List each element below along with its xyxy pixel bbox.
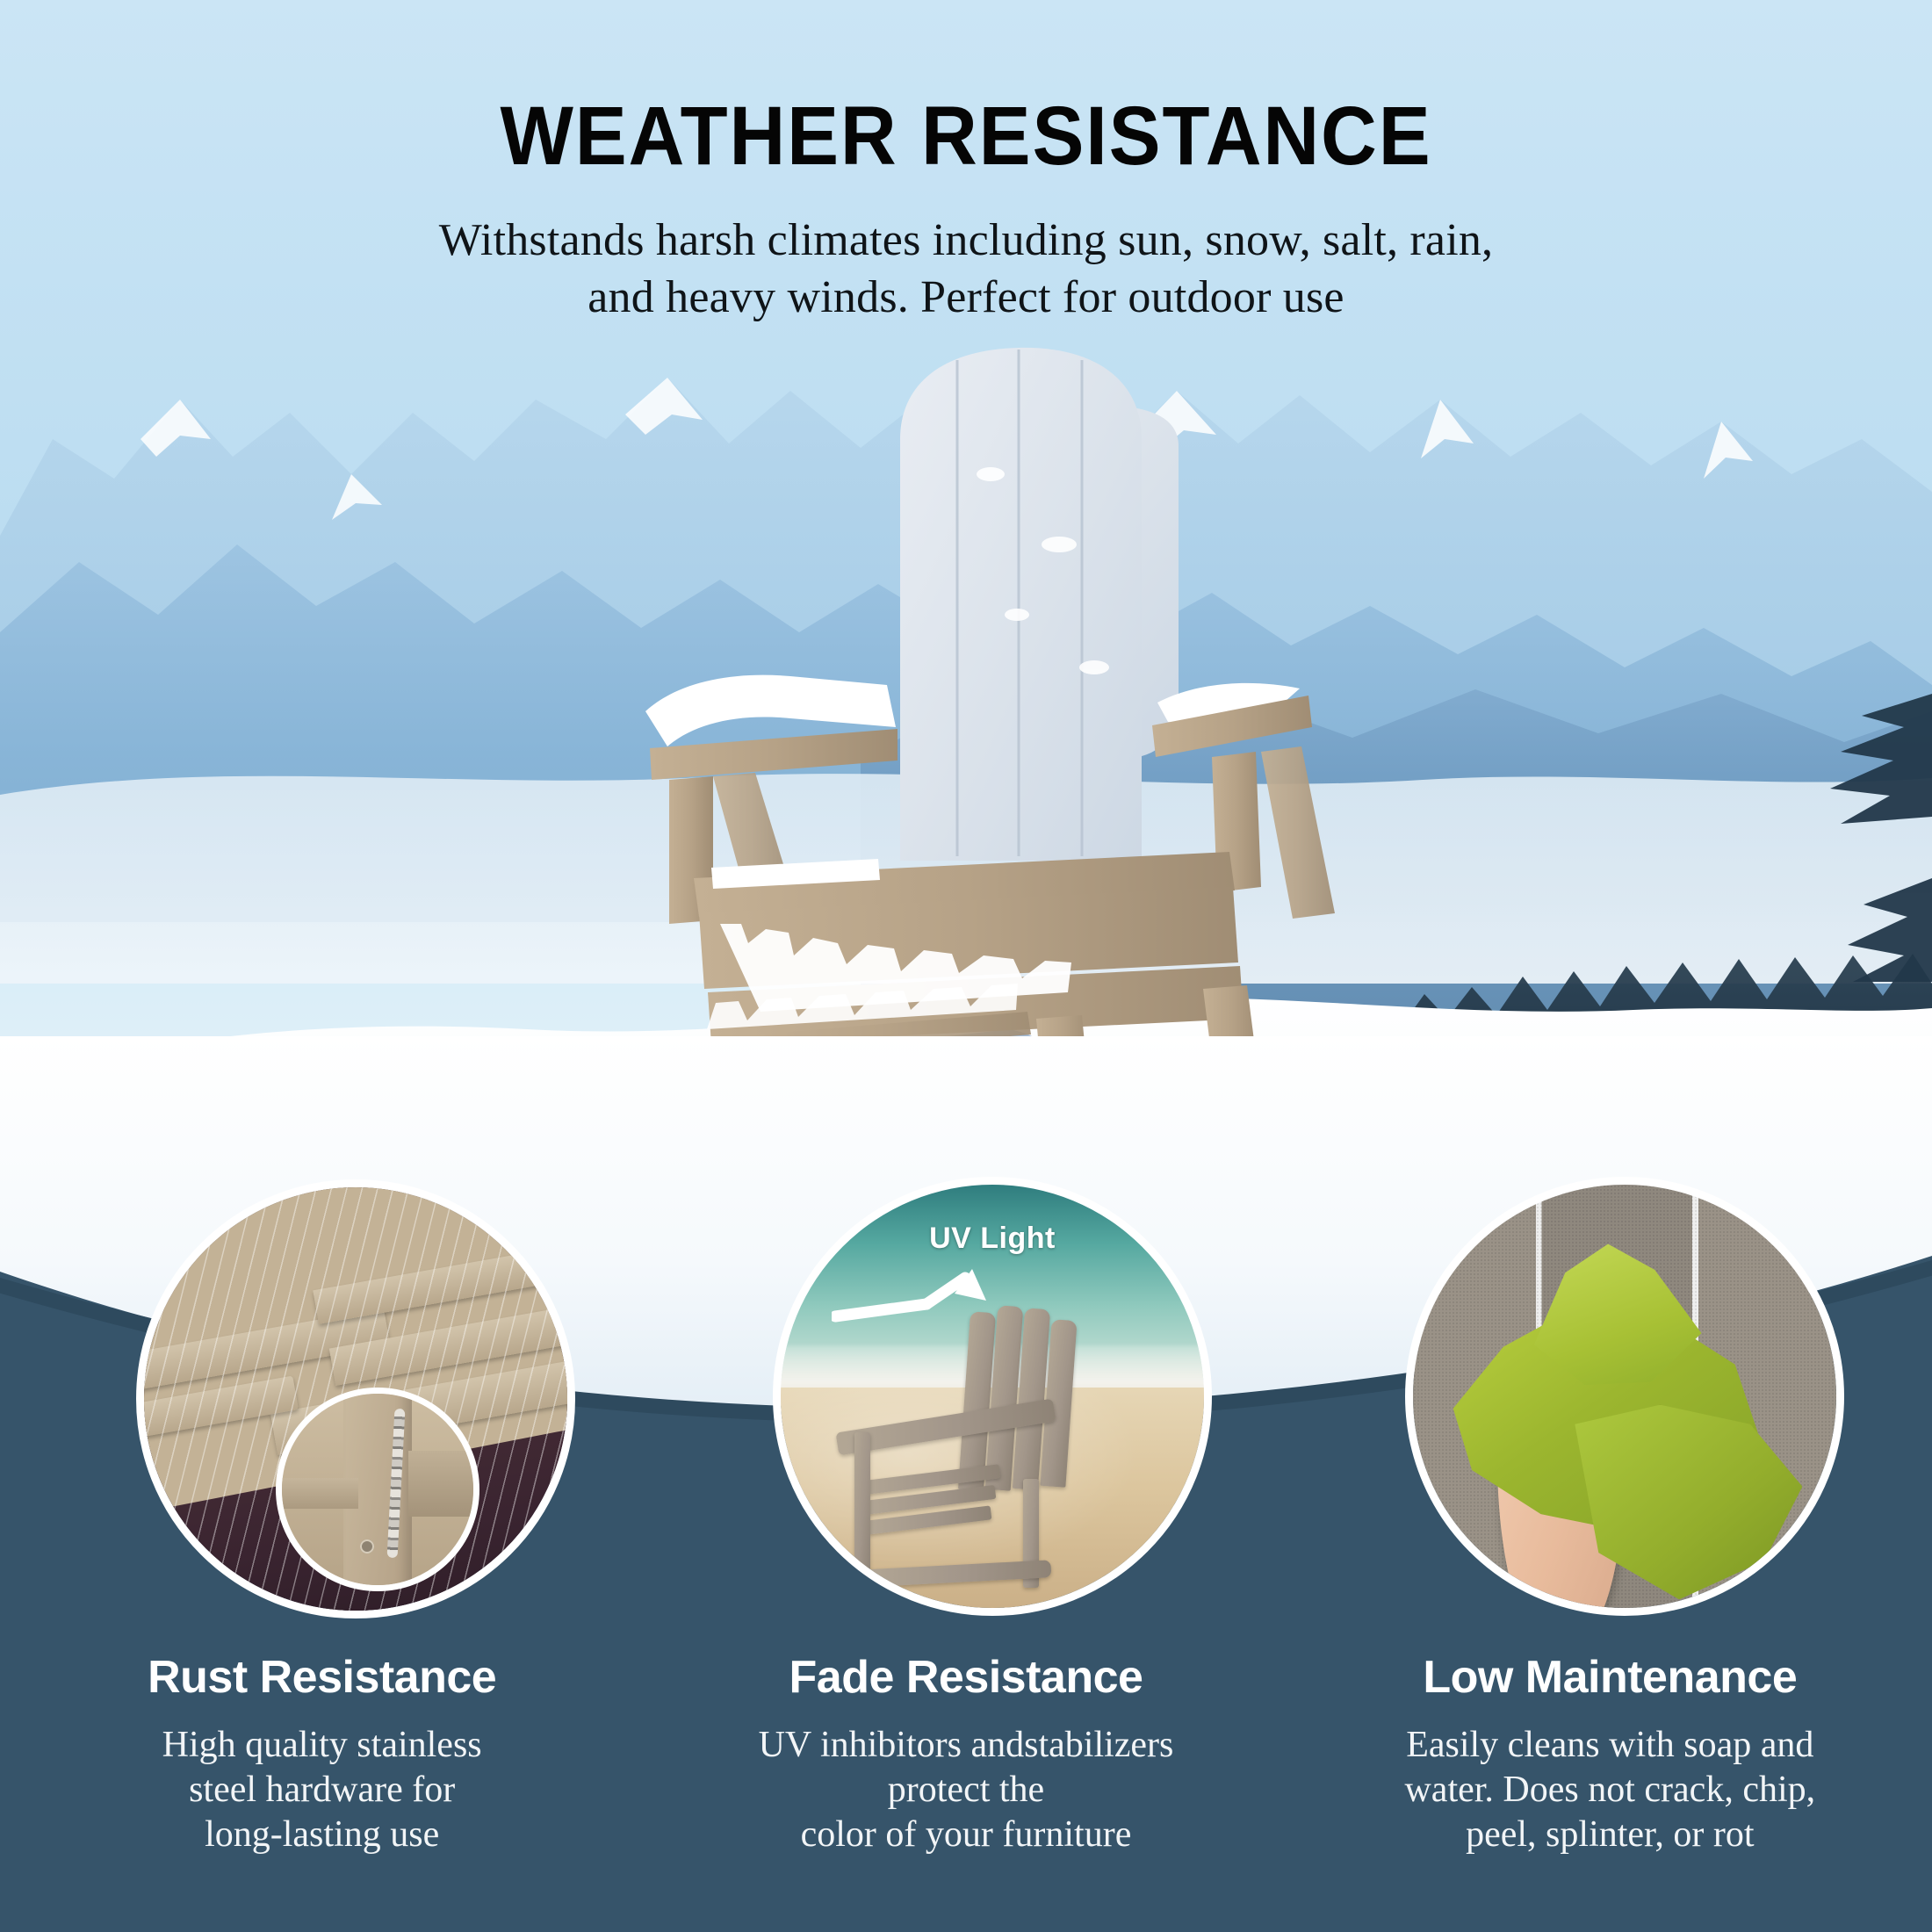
feature-title-fade-resistance: Fade Resistance <box>679 1651 1252 1704</box>
uv-light-badge: UV Light <box>781 1222 1204 1256</box>
feature-desc-line-2: water. Does not crack, chip, <box>1399 1768 1820 1813</box>
feature-image-fade-resistance: UV Light <box>773 1177 1212 1616</box>
page-title: WEATHER RESISTANCE <box>68 95 1864 178</box>
feature-desc-line-1: Easily cleans with soap and <box>1399 1723 1820 1768</box>
feature-desc-line-1: UV inhibitors andstabilizers <box>755 1723 1177 1768</box>
uv-arrow-icon <box>832 1262 1025 1359</box>
feature-image-low-maintenance <box>1405 1177 1844 1616</box>
feature-column-low-maintenance: Low Maintenance Easily cleans with soap … <box>1288 1651 1932 1858</box>
feature-image-rust-resistance <box>136 1179 575 1618</box>
feature-desc-line-2: protect the <box>755 1768 1177 1813</box>
feature-column-fade-resistance: Fade Resistance UV inhibitors andstabili… <box>644 1651 1287 1858</box>
page-subtitle: Withstands harsh climates including sun,… <box>307 212 1625 326</box>
feature-description-rust-resistance: High quality stainless steel hardware fo… <box>112 1723 533 1858</box>
subtitle-line-2: and heavy winds. Perfect for outdoor use <box>307 269 1625 326</box>
hardware-closeup-inset <box>276 1388 479 1591</box>
feature-circles-row: UV Light <box>0 1177 1932 1633</box>
feature-column-rust-resistance: Rust Resistance High quality stainless s… <box>0 1651 644 1858</box>
cleaning-cloth-photo <box>1413 1185 1836 1608</box>
feature-desc-line-1: High quality stainless <box>112 1723 533 1768</box>
feature-desc-line-3: long-lasting use <box>112 1813 533 1857</box>
feature-title-low-maintenance: Low Maintenance <box>1323 1651 1897 1704</box>
beach-chair-photo: UV Light <box>781 1185 1204 1608</box>
feature-desc-line-3: color of your furniture <box>755 1813 1177 1857</box>
infographic-canvas: WEATHER RESISTANCE Withstands harsh clim… <box>0 0 1932 1932</box>
feature-desc-line-3: peel, splinter, or rot <box>1399 1813 1820 1857</box>
feature-title-rust-resistance: Rust Resistance <box>35 1651 609 1704</box>
header-block: WEATHER RESISTANCE Withstands harsh clim… <box>0 95 1932 326</box>
feature-desc-line-2: steel hardware for <box>112 1768 533 1813</box>
subtitle-line-1: Withstands harsh climates including sun,… <box>307 212 1625 269</box>
feature-description-fade-resistance: UV inhibitors andstabilizers protect the… <box>755 1723 1177 1858</box>
feature-text-row: Rust Resistance High quality stainless s… <box>0 1651 1932 1858</box>
feature-description-low-maintenance: Easily cleans with soap and water. Does … <box>1399 1723 1820 1858</box>
